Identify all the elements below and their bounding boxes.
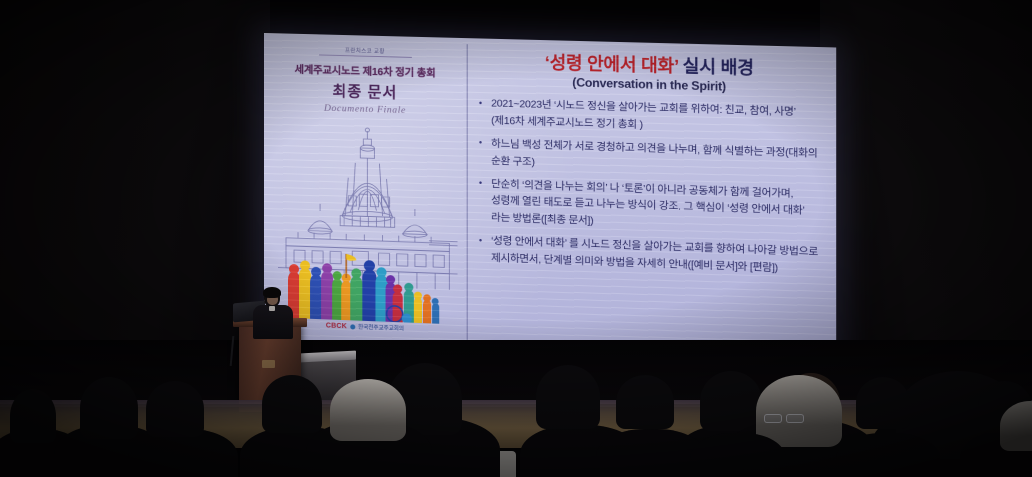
glasses-icon xyxy=(764,414,782,423)
presenter xyxy=(248,288,302,336)
crowd-illustration xyxy=(282,246,451,325)
presenter-collar xyxy=(269,306,275,311)
slide-title-accent: ‘성령 안에서 대화’ xyxy=(545,52,679,76)
slide-title-rest: 실시 배경 xyxy=(678,56,753,78)
bullet-item: 단순히 ‘의견을 나누는 회의’ 나 ‘토론’이 아니라 공동체가 함께 걸어가… xyxy=(477,177,824,239)
slide-content: 프란치스코 교황 세계주교시노드 제16차 정기 총회 최종 문서 Docume… xyxy=(264,33,836,371)
cover-title-line1: 세계주교시노드 제16차 정기 총회 xyxy=(264,60,467,81)
audience-head xyxy=(856,377,910,429)
audience-head-gray xyxy=(756,375,842,447)
bullet-item: ‘성령 안에서 대화’ 를 시노드 정신을 살아가는 교회를 향하여 나아갈 방… xyxy=(477,234,824,280)
bullet-item: 2021~2023년 ‘시노드 정신을 살아가는 교회를 위하여: 친교, 참여… xyxy=(477,96,824,140)
glasses-icon xyxy=(786,414,804,423)
cbck-label: 한국천주교주교회의 xyxy=(358,323,404,333)
audience-shoulders xyxy=(690,433,786,477)
presenter-hair xyxy=(263,287,281,298)
auditorium-scene: 프란치스코 교황 세계주교시노드 제16차 정기 총회 최종 문서 Docume… xyxy=(0,0,1032,477)
lectern-plate xyxy=(262,360,275,368)
bullet-item: 하느님 백성 전체가 서로 경청하고 의견을 나누며, 함께 식별하는 과정(대… xyxy=(477,136,824,181)
audience-head xyxy=(616,375,674,429)
audience-head xyxy=(536,365,600,429)
audience-head xyxy=(80,377,138,439)
audience-head xyxy=(262,375,322,433)
audience-head-gray xyxy=(330,379,406,441)
slide-right-panel: ‘성령 안에서 대화’ 실시 배경 (Conversation in the S… xyxy=(467,38,837,371)
cbck-dot-icon xyxy=(350,324,355,329)
audience-row xyxy=(0,384,1032,477)
audience-head xyxy=(700,371,762,431)
slide-bullet-list: 2021~2023년 ‘시노드 정신을 살아가는 교회를 위하여: 친교, 참여… xyxy=(477,96,824,280)
projection-screen: 프란치스코 교황 세계주교시노드 제16차 정기 총회 최종 문서 Docume… xyxy=(264,33,836,371)
cover-title-line2: 최종 문서 xyxy=(264,78,467,105)
audience-head xyxy=(146,381,204,437)
cbck-mark: CBCK xyxy=(326,322,347,330)
audience-shoulders xyxy=(836,433,940,477)
audience-head xyxy=(10,389,56,443)
